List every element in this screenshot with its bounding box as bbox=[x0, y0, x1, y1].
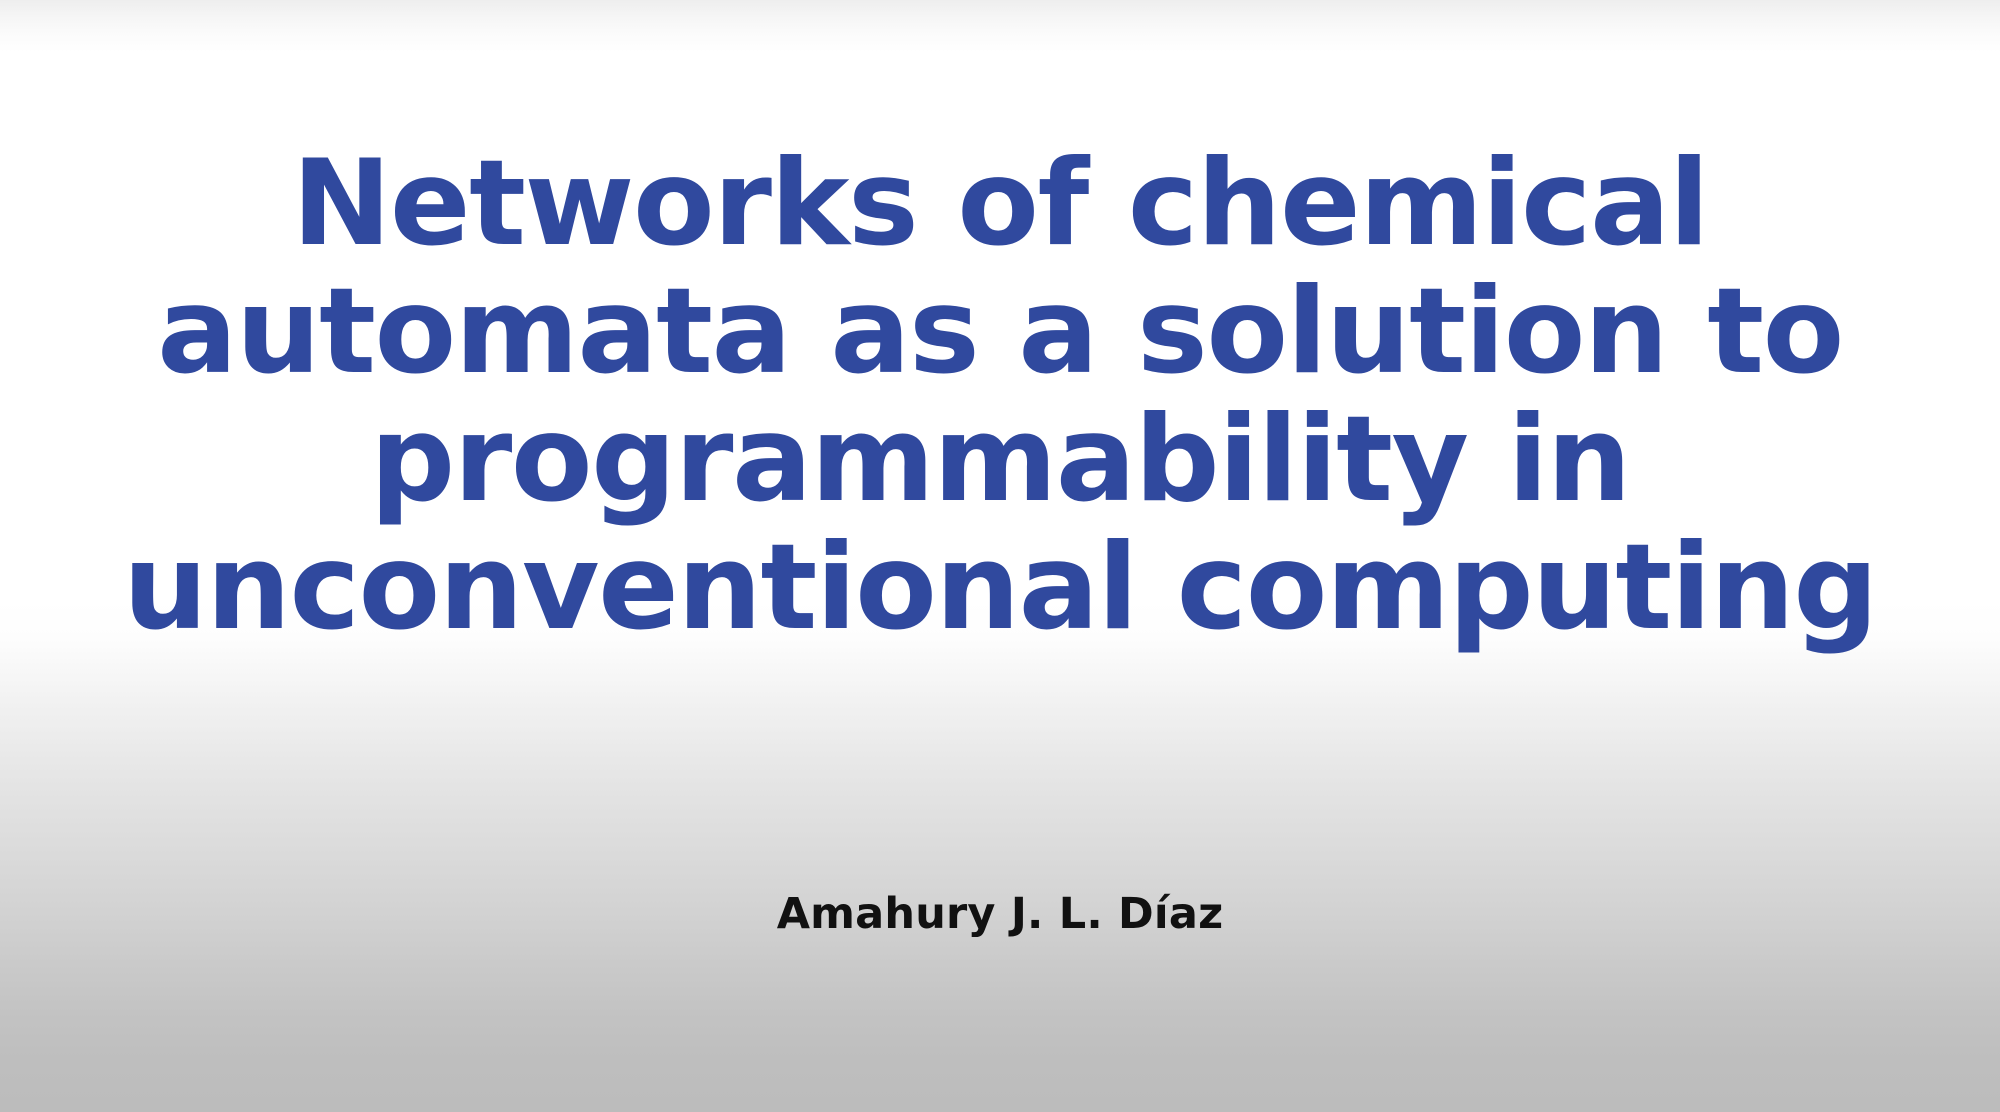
author-byline: Amahury J. L. Díaz bbox=[300, 888, 1700, 940]
author-name: Amahury J. L. Díaz bbox=[777, 888, 1224, 940]
slide-content: Networks of chemical automata as a solut… bbox=[0, 0, 2000, 1112]
title-slide: Networks of chemical automata as a solut… bbox=[0, 0, 2000, 1112]
title-line-4: unconventional computing bbox=[90, 524, 1910, 652]
title-line-2: automata as a solution to bbox=[90, 268, 1910, 396]
title-line-1: Networks of chemical bbox=[90, 140, 1910, 268]
page-title: Networks of chemical automata as a solut… bbox=[90, 140, 1910, 652]
title-line-3: programmability in bbox=[90, 396, 1910, 524]
